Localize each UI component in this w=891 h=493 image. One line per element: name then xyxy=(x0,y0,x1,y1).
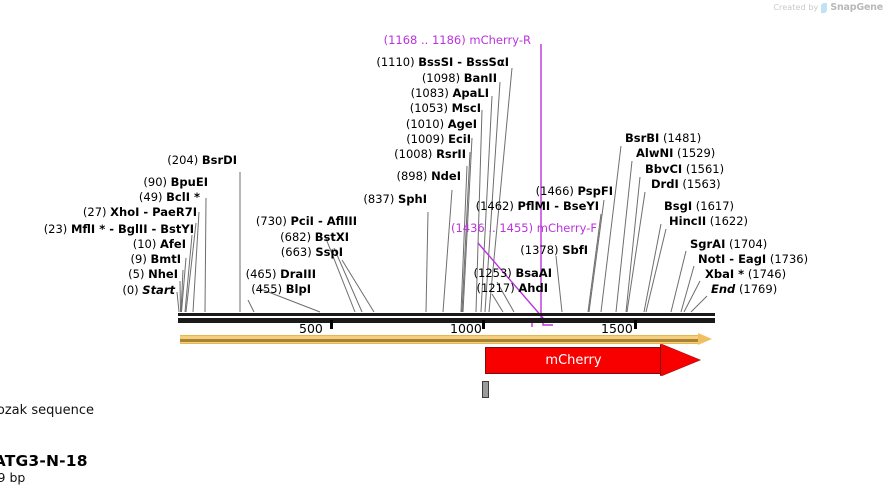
site-position: (1098) xyxy=(422,71,460,85)
site-label[interactable]: (898) NdeI xyxy=(0,171,461,183)
site-position: (1010) xyxy=(406,117,444,131)
site-label[interactable]: AlwNI (1529) xyxy=(636,148,715,160)
ruler-tick-label: 1500 xyxy=(601,321,633,336)
ruler-tick-mark xyxy=(330,320,333,329)
site-name: BanII xyxy=(464,71,497,85)
site-name: SgrAI xyxy=(690,237,725,251)
site-position: (1253) xyxy=(474,266,512,280)
primer-name: mCherry-R xyxy=(469,33,531,47)
site-label[interactable]: NotI - EagI (1736) xyxy=(698,254,808,266)
site-name: DrdI xyxy=(651,177,679,191)
site-name: NotI - EagI xyxy=(698,252,766,266)
site-label[interactable]: (1008) RsrII xyxy=(0,149,466,161)
site-position: (1529) xyxy=(677,146,715,160)
site-name: SbfI xyxy=(562,243,588,257)
site-name: BsaAI xyxy=(515,266,552,280)
site-position: (1481) xyxy=(663,131,701,145)
site-label[interactable]: SgrAI (1704) xyxy=(690,239,767,251)
site-name: AgeI xyxy=(448,117,477,131)
site-label[interactable]: (1466) PspFI xyxy=(0,186,613,198)
site-label[interactable]: BsgI (1617) xyxy=(664,201,734,213)
site-name: PspFI xyxy=(578,184,613,198)
site-name: ApaLI xyxy=(453,86,490,100)
site-label[interactable]: (1217) AhdI xyxy=(0,283,548,295)
site-label[interactable]: (1009) EciI xyxy=(0,134,471,146)
site-position: (1217) xyxy=(476,281,514,295)
site-name: End xyxy=(711,282,735,296)
site-position: (1746) xyxy=(748,267,786,281)
site-position: (1462) xyxy=(476,199,514,213)
site-position: (1704) xyxy=(729,237,767,251)
site-position: (1466) xyxy=(536,184,574,198)
site-name: NdeI xyxy=(431,169,461,183)
site-label[interactable]: (1010) AgeI xyxy=(0,119,477,131)
primer-label-mcherry-f[interactable]: (1436 .. 1455) mCherry-F xyxy=(0,223,597,235)
backbone-feature-arrowhead xyxy=(698,333,712,345)
mcherry-arrowhead xyxy=(661,344,700,376)
site-position: (1563) xyxy=(682,177,720,191)
mcherry-label: mCherry xyxy=(485,347,662,374)
site-position: (1561) xyxy=(686,162,724,176)
site-label[interactable]: (1253) BsaAI xyxy=(0,268,552,280)
site-name: BsrBI xyxy=(625,131,659,145)
ruler-tick-label: 500 xyxy=(299,321,323,336)
feature-mcherry-cds[interactable]: mCherry xyxy=(485,347,700,374)
site-label[interactable]: (1110) BssSI - BssSαI xyxy=(0,57,509,69)
site-label[interactable]: BbvCI (1561) xyxy=(645,164,724,176)
site-label[interactable]: (1462) PflMI - BseYI xyxy=(0,201,599,213)
site-name: AhdI xyxy=(518,281,548,295)
site-position: (1622) xyxy=(710,214,748,228)
site-position: (1378) xyxy=(520,243,558,257)
backbone-line-top xyxy=(178,313,715,316)
site-label[interactable]: HincII (1622) xyxy=(669,216,748,228)
backbone-feature-arrow[interactable] xyxy=(180,335,712,344)
site-name: BssSI - BssSαI xyxy=(418,55,509,69)
primer-label-mcherry-r[interactable]: (1168 .. 1186) mCherry-R xyxy=(0,35,531,47)
site-name: HincII xyxy=(669,214,706,228)
site-name: XbaI * xyxy=(705,267,744,281)
site-label[interactable]: (1378) SbfI xyxy=(0,245,588,257)
kozak-label: Kozak sequence xyxy=(0,403,891,418)
site-position: (1053) xyxy=(410,101,448,115)
site-name: RsrII xyxy=(436,147,466,161)
site-name: PflMI - BseYI xyxy=(518,199,599,213)
primer-range: (1168 .. 1186) xyxy=(384,33,466,47)
backbone-feature-bar xyxy=(180,335,698,344)
kozak-label-text: Kozak sequence xyxy=(0,403,94,418)
site-name: BsgI xyxy=(664,199,692,213)
site-name: BbvCI xyxy=(645,162,682,176)
site-label[interactable]: (1053) MscI xyxy=(0,103,481,115)
feature-kozak-marker[interactable] xyxy=(482,381,489,398)
site-position: (898) xyxy=(396,169,427,183)
ruler-tick-mark xyxy=(482,320,485,329)
primer-range: (1436 .. 1455) xyxy=(451,221,533,235)
plasmid-title-text: mCherry-ATG3-N-18 xyxy=(0,452,88,470)
site-position: (1083) xyxy=(411,86,449,100)
site-name: MscI xyxy=(452,101,481,115)
site-label[interactable]: DrdI (1563) xyxy=(651,179,721,191)
site-label[interactable]: End (1769) xyxy=(711,284,777,296)
plasmid-size-text: 1769 bp xyxy=(0,470,25,485)
ruler-tick-label: 1000 xyxy=(450,321,482,336)
site-position: (1110) xyxy=(376,55,414,69)
site-name: AlwNI xyxy=(636,146,673,160)
site-label[interactable]: BsrBI (1481) xyxy=(625,133,701,145)
plasmid-title: mCherry-ATG3-N-18 xyxy=(0,452,891,470)
site-position: (1009) xyxy=(406,132,444,146)
plasmid-size: 1769 bp xyxy=(0,470,891,485)
site-name: EciI xyxy=(448,132,471,146)
site-label[interactable]: (1083) ApaLI xyxy=(0,88,489,100)
plasmid-map: Created by SnapGene xyxy=(0,0,891,493)
primer-name: mCherry-F xyxy=(537,221,597,235)
ruler-tick-mark xyxy=(634,320,637,329)
site-position: (1736) xyxy=(770,252,808,266)
site-position: (1769) xyxy=(739,282,777,296)
site-position: (1617) xyxy=(696,199,734,213)
site-label[interactable]: XbaI * (1746) xyxy=(705,269,786,281)
site-label[interactable]: (1098) BanII xyxy=(0,73,497,85)
site-position: (1008) xyxy=(394,147,432,161)
